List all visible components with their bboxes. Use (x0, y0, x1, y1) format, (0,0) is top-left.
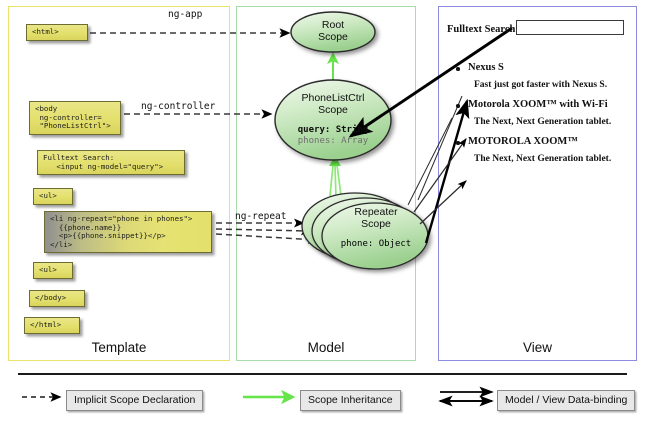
label-ng-app: ng-app (168, 9, 202, 20)
phone-name: MOTOROLA XOOM™ (452, 136, 632, 147)
legend-item-scope-inheritance: Scope Inheritance (300, 390, 401, 411)
legend-item-data-binding: Model / View Data-binding (497, 390, 635, 411)
code-li-ng-repeat: <li ng-repeat="phone in phones"> {{phone… (44, 211, 212, 253)
list-item[interactable]: MOTOROLA XOOM™ The Next, Next Generation… (452, 136, 632, 164)
legend: Implicit Scope Declaration Scope Inherit… (0, 378, 645, 425)
view-search-input[interactable] (516, 20, 624, 35)
code-body-close: </body> (29, 290, 85, 307)
list-item[interactable]: Nexus S Fast just got faster with Nexus … (452, 62, 632, 90)
view-search-label: Fulltext Search: (447, 24, 519, 35)
phone-snippet: The Next, Next Generation tablet. (452, 154, 632, 164)
phone-snippet: Fast just got faster with Nexus S. (452, 80, 632, 90)
code-body-open: <body ng-controller= "PhoneListCtrl"> (29, 101, 121, 135)
diagram-root: <html> <body ng-controller= "PhoneListCt… (0, 0, 645, 425)
column-label-model: Model (236, 335, 416, 361)
shape-repeater-scope (302, 193, 428, 269)
shape-root-scope (291, 12, 375, 52)
column-label-template: Template (8, 335, 230, 361)
view-phone-list: Nexus S Fast just got faster with Nexus … (452, 62, 632, 173)
list-item[interactable]: Motorola XOOM™ with Wi-Fi The Next, Next… (452, 99, 632, 127)
view-content: Fulltext Search: Nexus S Fast just got f… (438, 6, 637, 361)
column-label-view: View (438, 335, 637, 361)
code-search-input: Fulltext Search: <input ng-model="query"… (37, 150, 185, 175)
phone-name: Nexus S (452, 62, 632, 73)
code-html-open: <html> (26, 24, 88, 41)
phone-name: Motorola XOOM™ with Wi-Fi (452, 99, 632, 110)
code-ul-close: <ul> (33, 262, 73, 279)
code-html-close: </html> (24, 317, 80, 334)
code-ul-open: <ul> (33, 188, 73, 205)
phone-snippet: The Next, Next Generation tablet. (452, 117, 632, 127)
legend-item-implicit-scope: Implicit Scope Declaration (66, 390, 203, 411)
label-ng-controller: ng-controller (141, 101, 215, 112)
label-ng-repeat: ng-repeat (235, 211, 286, 222)
